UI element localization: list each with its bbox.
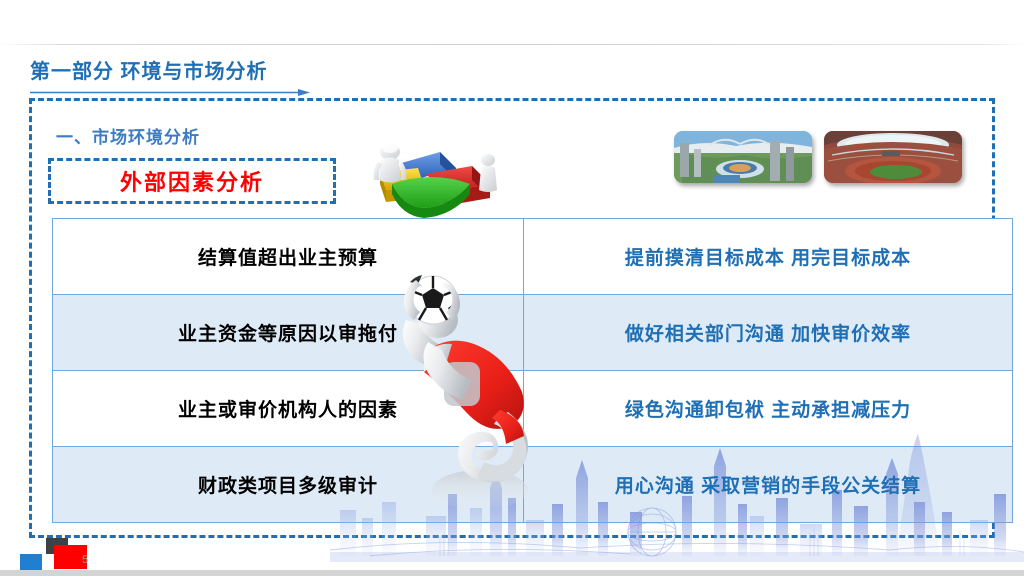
problem-text: 结算值超出业主预算: [198, 248, 378, 269]
highlight-box-label: 外部因素分析: [120, 165, 264, 197]
problem-text: 业主资金等原因以审拖付: [178, 324, 398, 345]
table-row: 结算值超出业主预算 提前摸清目标成本 用完目标成本: [53, 219, 1013, 295]
sub-heading: 一、市场环境分析: [56, 123, 200, 148]
table-row: 业主或审价机构人的因素 绿色沟通卸包袱 主动承担减压力: [53, 371, 1013, 447]
table-row: 业主资金等原因以审拖付 做好相关部门沟通 加快审价效率: [53, 295, 1013, 371]
page-title: 第一部分 环境与市场分析: [30, 55, 268, 84]
table-cell-problem: 业主资金等原因以审拖付: [53, 295, 524, 371]
solution-text: 用心沟通 采取营销的手段公关结算: [615, 476, 921, 497]
slide-canvas: 第一部分 环境与市场分析 一、市场环境分析 外部因素分析: [0, 0, 1024, 576]
analysis-table-wrapper: 结算值超出业主预算 提前摸清目标成本 用完目标成本 业主资金等原因以审拖付 做好…: [52, 218, 986, 518]
solution-text: 提前摸清目标成本 用完目标成本: [625, 248, 911, 269]
table-cell-solution: 绿色沟通卸包袱 主动承担减压力: [524, 371, 1013, 447]
stadium-aerial-photo: [674, 131, 812, 183]
table-cell-problem: 业主或审价机构人的因素: [53, 371, 524, 447]
slide-number: 5: [82, 554, 88, 566]
viewer-bottom-strip: [0, 570, 1024, 576]
analysis-table: 结算值超出业主预算 提前摸清目标成本 用完目标成本 业主资金等原因以审拖付 做好…: [52, 218, 1013, 523]
company-logo: [14, 538, 76, 572]
problem-text: 业主或审价机构人的因素: [178, 400, 398, 421]
stadium-track-photo: [824, 131, 962, 183]
solution-text: 做好相关部门沟通 加快审价效率: [625, 324, 911, 345]
table-cell-problem: 财政类项目多级审计: [53, 447, 524, 523]
header-divider-line: [0, 44, 1024, 45]
highlight-box: 外部因素分析: [48, 158, 336, 204]
table-cell-solution: 用心沟通 采取营销的手段公关结算: [524, 447, 1013, 523]
title-arrow-icon: [30, 88, 310, 97]
table-row: 财政类项目多级审计 用心沟通 采取营销的手段公关结算: [53, 447, 1013, 523]
table-cell-solution: 提前摸清目标成本 用完目标成本: [524, 219, 1013, 295]
pie-chart-clipart-icon: [340, 122, 516, 218]
table-cell-solution: 做好相关部门沟通 加快审价效率: [524, 295, 1013, 371]
solution-text: 绿色沟通卸包袱 主动承担减压力: [625, 400, 911, 421]
problem-text: 财政类项目多级审计: [198, 476, 378, 497]
logo-blue-square: [20, 554, 42, 570]
table-cell-problem: 结算值超出业主预算: [53, 219, 524, 295]
